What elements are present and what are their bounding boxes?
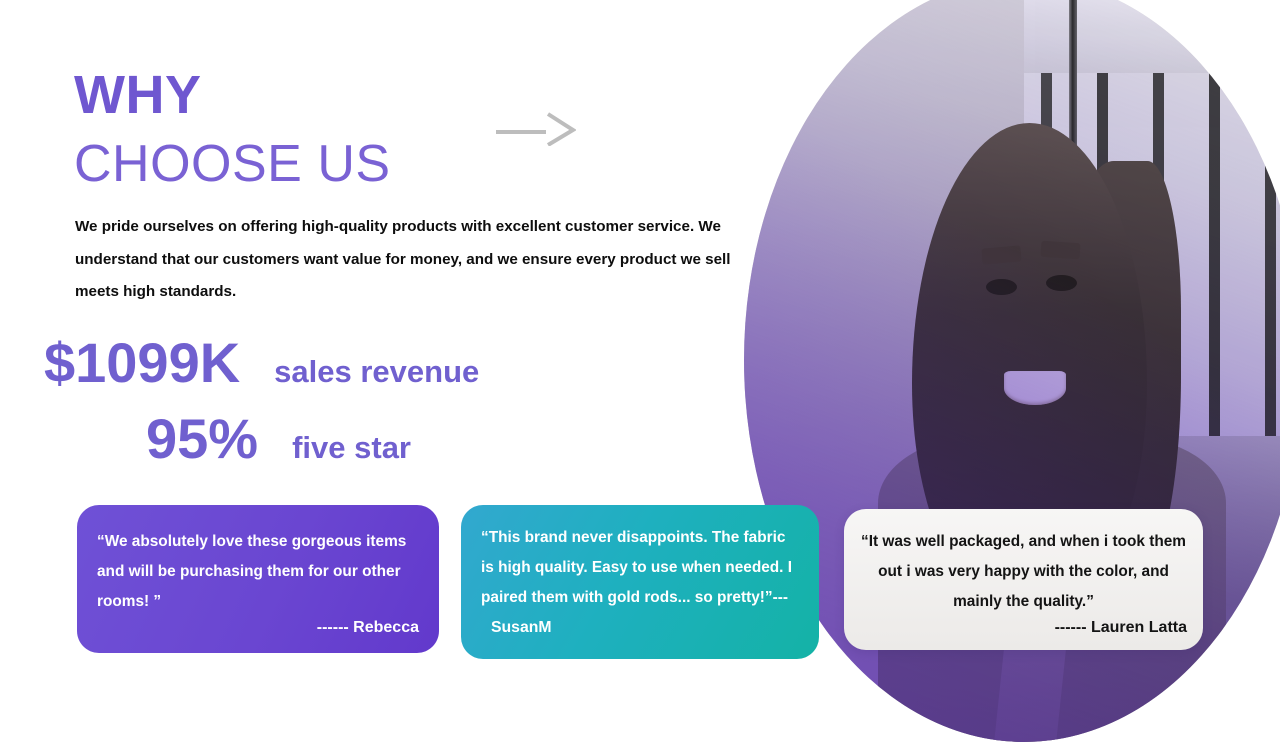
arrow-right-icon xyxy=(494,112,576,146)
stats-group: $1099K sales revenue 95% five star xyxy=(0,332,700,469)
stat-label-five-star: five star xyxy=(292,430,411,466)
testimonial-card-rebecca[interactable]: “We absolutely love these gorgeous items… xyxy=(77,505,439,653)
testimonial-quote: “It was well packaged, and when i took t… xyxy=(860,527,1187,617)
stat-sales-revenue: $1099K sales revenue xyxy=(0,332,700,394)
page-title-line2: CHOOSE US xyxy=(74,138,391,190)
testimonial-card-lauren-latta[interactable]: “It was well packaged, and when i took t… xyxy=(844,509,1203,650)
testimonial-author: SusanM xyxy=(491,619,552,636)
page-title-line1: WHY xyxy=(74,68,201,122)
testimonial-card-susanm[interactable]: “This brand never disappoints. The fabri… xyxy=(461,505,819,659)
testimonial-author: ------ Lauren Latta xyxy=(860,619,1187,637)
testimonial-quote: “We absolutely love these gorgeous items… xyxy=(97,527,419,617)
testimonial-quote: “This brand never disappoints. The fabri… xyxy=(481,523,799,644)
stat-five-star: 95% five star xyxy=(0,408,700,470)
stat-value-revenue: $1099K xyxy=(44,332,240,394)
stat-value-five-star: 95% xyxy=(146,408,258,470)
stat-label-revenue: sales revenue xyxy=(274,354,479,390)
testimonial-author: ------ Rebecca xyxy=(97,619,419,637)
intro-paragraph: We pride ourselves on offering high-qual… xyxy=(75,211,755,309)
